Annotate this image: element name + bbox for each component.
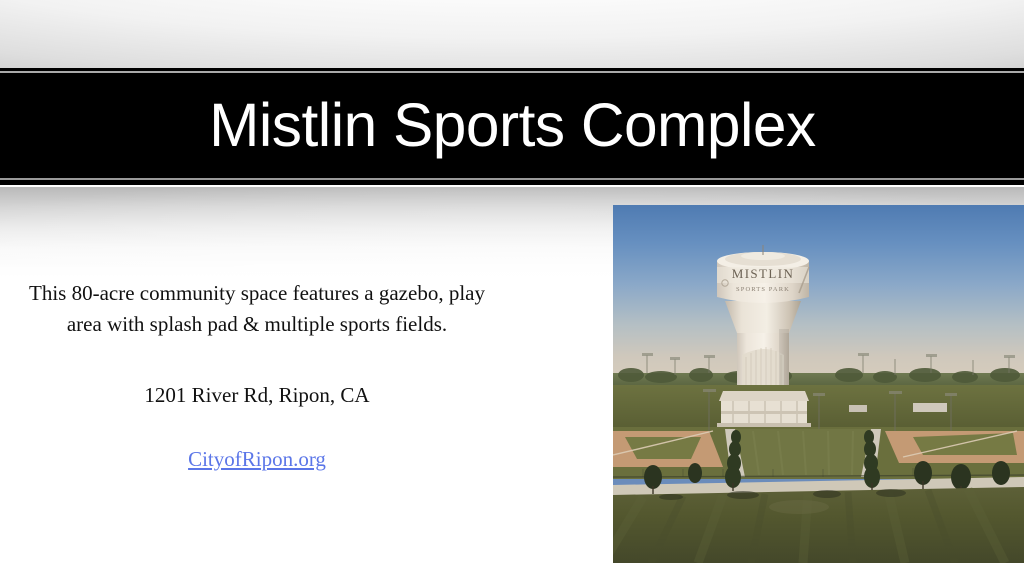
title-rule-bottom (0, 180, 1024, 185)
title-bar: Mistlin Sports Complex (0, 73, 1024, 178)
description-text: This 80-acre community space features a … (18, 278, 496, 340)
title-banner: Mistlin Sports Complex (0, 68, 1024, 187)
address-text: 1201 River Rd, Ripon, CA (18, 380, 496, 410)
slide: Mistlin Sports Complex This 80-acre comm… (0, 0, 1024, 577)
sports-complex-photo: MISTLIN SPORTS PARK (613, 205, 1024, 563)
svg-text:MISTLIN: MISTLIN (732, 266, 795, 281)
svg-text:SPORTS PARK: SPORTS PARK (736, 286, 790, 293)
link-row: CityofRipon.org (18, 447, 496, 472)
page-title: Mistlin Sports Complex (209, 95, 816, 156)
background-gradient-top (0, 0, 1024, 70)
city-of-ripon-link[interactable]: CityofRipon.org (188, 447, 326, 471)
info-text-column: This 80-acre community space features a … (18, 278, 496, 472)
